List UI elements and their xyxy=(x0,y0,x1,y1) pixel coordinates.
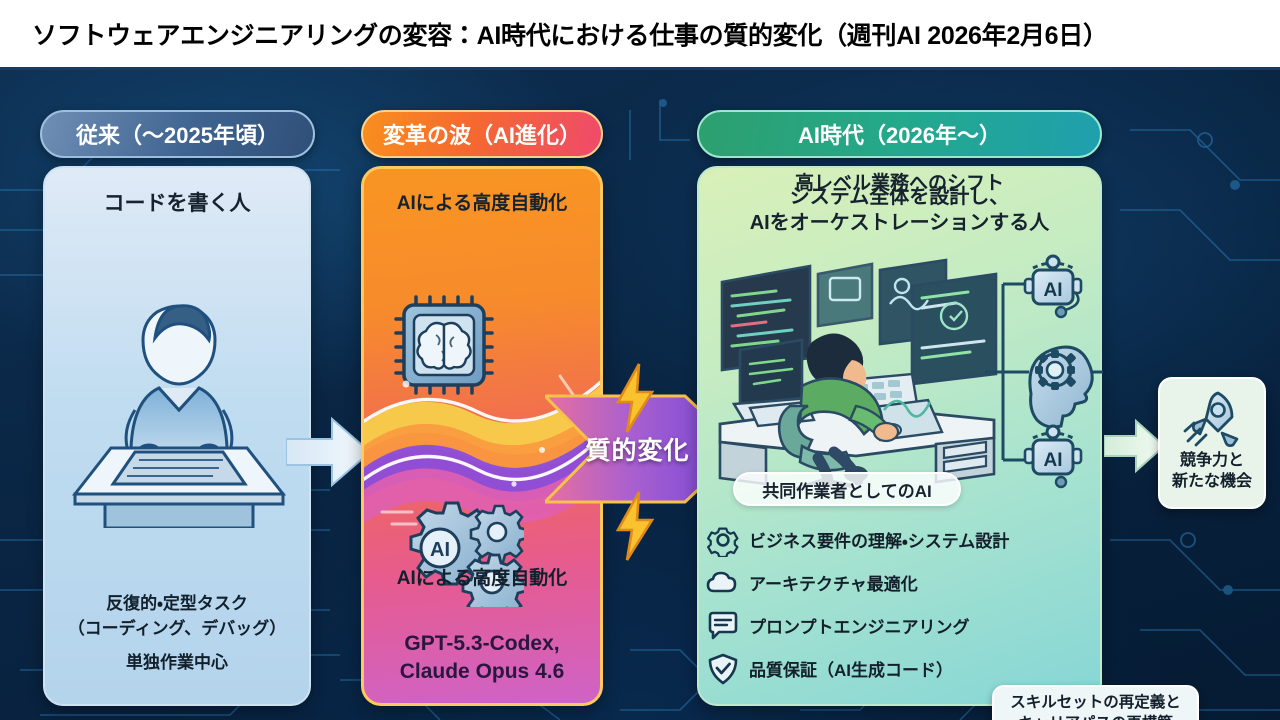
legacy-column-header: 従来（〜2025年頃） xyxy=(40,110,315,158)
infographic-canvas: 従来（〜2025年頃） コードを書く人 xyxy=(0,70,1280,720)
legacy-panel-title: コードを書く人 xyxy=(45,190,309,218)
arrow-right-icon xyxy=(286,415,372,489)
feature-row: アーキテクチャ最適化 xyxy=(706,561,1056,604)
title-bar: ソフトウェアエンジニアリングの変容：AI時代における仕事の質的変化（週刊AI 2… xyxy=(0,0,1280,68)
wave-model-line1: GPT-5.3-Codex, xyxy=(364,630,600,657)
feature-label: ビジネス要件の理解・システム設計 xyxy=(749,527,1009,552)
feature-row: 品質保証（AI生成コード） xyxy=(706,647,1056,690)
legacy-footer-line1: 反復的・定型タスク xyxy=(45,592,309,617)
ai-era-panel-title: システム全体を設計し、 AIをオーケストレーションする人 xyxy=(699,184,1100,237)
shield-check-icon xyxy=(706,652,740,686)
legacy-footer-line2: （コーディング、デバッグ） xyxy=(45,617,309,642)
ai-badge-icon: AI xyxy=(1025,256,1081,317)
legacy-footer: 反復的・定型タスク （コーディング、デバッグ） 単独作業中心 xyxy=(45,592,309,676)
ai-badge-icon: AI xyxy=(1025,426,1081,487)
head-with-gear-icon xyxy=(1030,347,1092,427)
ai-node-network: AI AI xyxy=(985,252,1103,492)
gear-icon xyxy=(706,523,740,557)
wave-footer: AIによる高度自動化 xyxy=(364,565,600,593)
lightning-bolt-icon xyxy=(612,362,658,434)
svg-text:AI: AI xyxy=(1044,280,1063,301)
person-typing-keyboard-icon xyxy=(61,298,297,528)
lightning-bolt-icon xyxy=(612,490,658,562)
engineer-multi-monitor-workstation-icon xyxy=(706,252,1006,492)
arrow-right-icon xyxy=(1104,418,1166,474)
ai-era-title-line1: システム全体を設計し、 xyxy=(713,184,1086,210)
svg-text:AI: AI xyxy=(1044,450,1063,471)
wave-panel-title: AIによる高度自動化 xyxy=(364,191,600,216)
page-title: ソフトウェアエンジニアリングの変容：AI時代における仕事の質的変化（週刊AI 2… xyxy=(0,16,1108,52)
wave-model-line2: Claude Opus 4.6 xyxy=(364,658,600,685)
collaborator-ai-badge: 共同作業者としてのAI xyxy=(733,472,961,506)
skills-callout: スキルセットの再定義と キャリアパスの再構築 xyxy=(992,685,1199,720)
legacy-panel: コードを書く人 xyxy=(43,166,311,706)
ai-era-feature-list: ビジネス要件の理解・システム設計 アーキテクチャ最適化 プロンプトエンジニアリン… xyxy=(706,518,1056,690)
feature-row: ビジネス要件の理解・システム設計 xyxy=(706,518,1056,561)
callout-line2: キャリアパスの再構築 xyxy=(1010,714,1181,720)
svg-text:AI: AI xyxy=(430,539,450,561)
wave-models: GPT-5.3-Codex, Claude Opus 4.6 xyxy=(364,630,600,685)
feature-label: アーキテクチャ最適化 xyxy=(749,570,918,595)
outcome-card: 競争力と 新たな機会 xyxy=(1158,377,1266,509)
feature-label: 品質保証（AI生成コード） xyxy=(749,656,953,681)
outcome-label: 競争力と 新たな機会 xyxy=(1172,451,1252,493)
cloud-icon xyxy=(706,566,740,600)
feature-row: プロンプトエンジニアリング xyxy=(706,604,1056,647)
rocket-icon xyxy=(1182,389,1242,447)
chat-bubble-icon xyxy=(706,609,740,643)
outcome-label-line1: 競争力と xyxy=(1172,451,1252,472)
ai-era-column-header: AI時代（2026年〜） xyxy=(697,110,1102,158)
ai-era-title-line2: AIをオーケストレーションする人 xyxy=(713,210,1086,236)
legacy-footer-line3: 単独作業中心 xyxy=(45,651,309,676)
callout-line1: スキルセットの再定義と xyxy=(1010,693,1181,714)
outcome-label-line2: 新たな機会 xyxy=(1172,472,1252,493)
feature-label: プロンプトエンジニアリング xyxy=(749,613,970,638)
wave-column-header: 変革の波（AI進化） xyxy=(361,110,603,158)
